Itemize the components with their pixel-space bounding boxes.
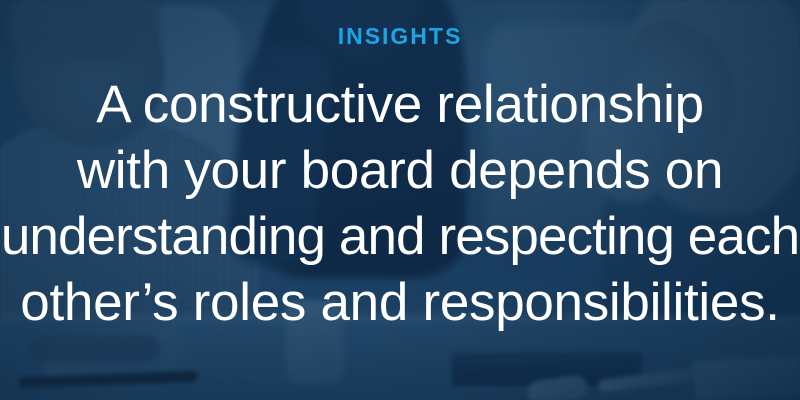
headline-line-1: A constructive relationship — [0, 72, 800, 138]
headline-line-4: other’s roles and responsibilities. — [0, 270, 800, 336]
quote-headline: A constructive relationship with your bo… — [0, 72, 800, 336]
headline-line-2: with your board depends on — [0, 138, 800, 204]
insights-quote-banner: INSIGHTS A constructive relationship wit… — [0, 0, 800, 400]
headline-line-3: understanding and respecting each — [0, 204, 800, 270]
banner-content: INSIGHTS A constructive relationship wit… — [0, 0, 800, 400]
eyebrow-label-insights: INSIGHTS — [338, 25, 463, 48]
